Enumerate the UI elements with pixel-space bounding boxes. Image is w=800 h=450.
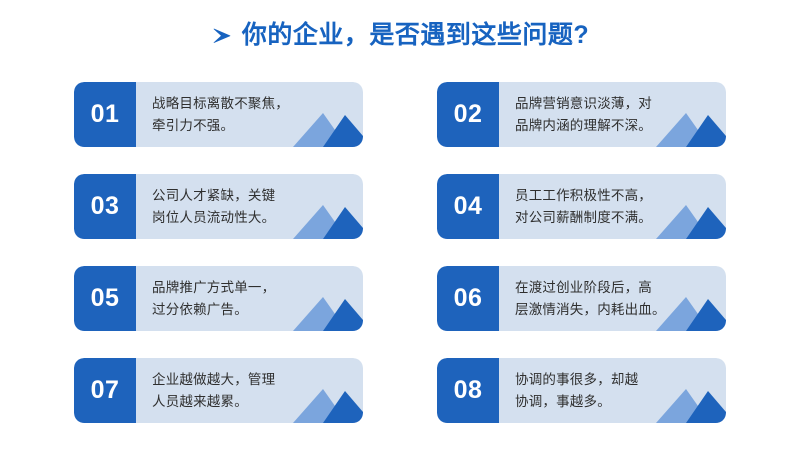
problem-card[interactable]: 05 品牌推广方式单一， 过分依赖广告。 (74, 266, 363, 331)
problem-card-grid: 01 战略目标离散不聚焦， 牵引力不强。 02 (74, 82, 726, 422)
problem-card[interactable]: 02 品牌营销意识淡薄，对 品牌内涵的理解不深。 (437, 82, 726, 147)
problem-card[interactable]: 03 公司人才紧缺，关键 岗位人员流动性大。 (74, 174, 363, 239)
problem-card[interactable]: 06 在渡过创业阶段后，高 层激情消失，内耗出血。 (437, 266, 726, 331)
page-title-text: 你的企业，是否遇到这些问题? (242, 22, 589, 50)
card-body: 在渡过创业阶段后，高 层激情消失，内耗出血。 (499, 266, 726, 331)
card-number-badge: 03 (74, 174, 136, 239)
card-text: 品牌推广方式单一， 过分依赖广告。 (136, 277, 285, 321)
card-number-badge: 01 (74, 82, 136, 147)
card-text: 品牌营销意识淡薄，对 品牌内涵的理解不深。 (499, 93, 662, 137)
card-number-badge: 07 (74, 358, 136, 423)
problem-card[interactable]: 08 协调的事很多，却越 协调，事越多。 (437, 358, 726, 423)
arrow-right-icon (211, 25, 233, 47)
card-text: 协调的事很多，却越 协调，事越多。 (499, 369, 648, 413)
slide-canvas: 你的企业，是否遇到这些问题? 01 战略目标离散不聚焦， 牵引力不强。 02 (0, 0, 800, 450)
card-number-badge: 06 (437, 266, 499, 331)
card-body: 品牌推广方式单一， 过分依赖广告。 (136, 266, 363, 331)
card-body: 战略目标离散不聚焦， 牵引力不强。 (136, 82, 363, 147)
card-body: 品牌营销意识淡薄，对 品牌内涵的理解不深。 (499, 82, 726, 147)
mountain-icon (656, 105, 726, 147)
card-text: 公司人才紧缺，关键 岗位人员流动性大。 (136, 185, 285, 229)
card-number-badge: 04 (437, 174, 499, 239)
mountain-icon (656, 381, 726, 423)
card-number-badge: 02 (437, 82, 499, 147)
mountain-icon (293, 105, 363, 147)
mountain-icon (293, 197, 363, 239)
problem-card[interactable]: 01 战略目标离散不聚焦， 牵引力不强。 (74, 82, 363, 147)
card-number-badge: 05 (74, 266, 136, 331)
card-body: 协调的事很多，却越 协调，事越多。 (499, 358, 726, 423)
card-text: 战略目标离散不聚焦， 牵引力不强。 (136, 93, 299, 137)
mountain-icon (293, 381, 363, 423)
card-number-badge: 08 (437, 358, 499, 423)
mountain-icon (656, 197, 726, 239)
card-body: 企业越做越大，管理 人员越来越累。 (136, 358, 363, 423)
problem-card[interactable]: 04 员工工作积极性不高， 对公司薪酬制度不满。 (437, 174, 726, 239)
mountain-icon (293, 289, 363, 331)
card-body: 员工工作积极性不高， 对公司薪酬制度不满。 (499, 174, 726, 239)
problem-card[interactable]: 07 企业越做越大，管理 人员越来越累。 (74, 358, 363, 423)
card-body: 公司人才紧缺，关键 岗位人员流动性大。 (136, 174, 363, 239)
card-text: 企业越做越大，管理 人员越来越累。 (136, 369, 285, 413)
card-text: 在渡过创业阶段后，高 层激情消失，内耗出血。 (499, 277, 676, 321)
page-title: 你的企业，是否遇到这些问题? (0, 22, 800, 50)
card-text: 员工工作积极性不高， 对公司薪酬制度不满。 (499, 185, 662, 229)
